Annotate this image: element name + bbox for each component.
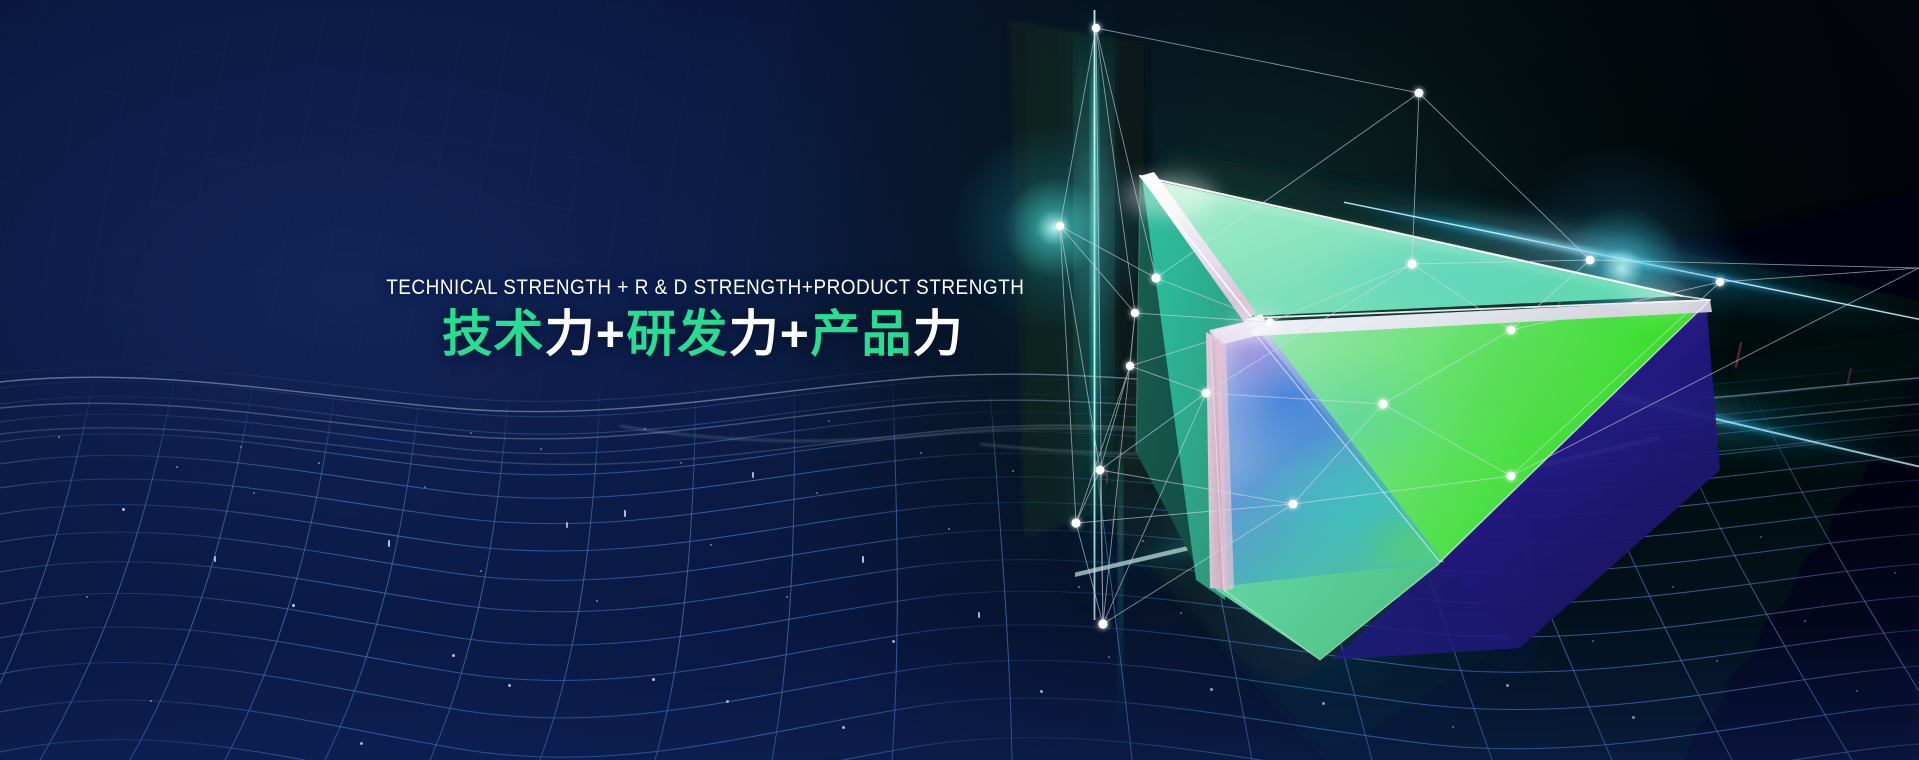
title-segment-li-1: 力 bbox=[545, 306, 596, 362]
title-segment-chanpin: 产品 bbox=[810, 306, 912, 362]
title-segment-li-2: 力 bbox=[729, 306, 780, 362]
hero-banner: TECHNICAL STRENGTH + R & D STRENGTH+PROD… bbox=[0, 0, 1919, 760]
network-node-overlay bbox=[0, 0, 1919, 760]
headline-title: 技术力+研发力+产品力 bbox=[343, 305, 1063, 363]
network-nodes bbox=[1056, 24, 1724, 629]
headline-eyebrow: TECHNICAL STRENGTH + R & D STRENGTH+PROD… bbox=[386, 276, 1020, 300]
title-segment-plus-2: + bbox=[780, 306, 810, 362]
title-segment-plus-1: + bbox=[596, 306, 626, 362]
title-segment-li-3: 力 bbox=[913, 306, 964, 362]
headline-block: TECHNICAL STRENGTH + R & D STRENGTH+PROD… bbox=[343, 276, 1063, 363]
title-segment-yanfa: 研发 bbox=[626, 306, 728, 362]
title-segment-jishu: 技术 bbox=[442, 306, 544, 362]
